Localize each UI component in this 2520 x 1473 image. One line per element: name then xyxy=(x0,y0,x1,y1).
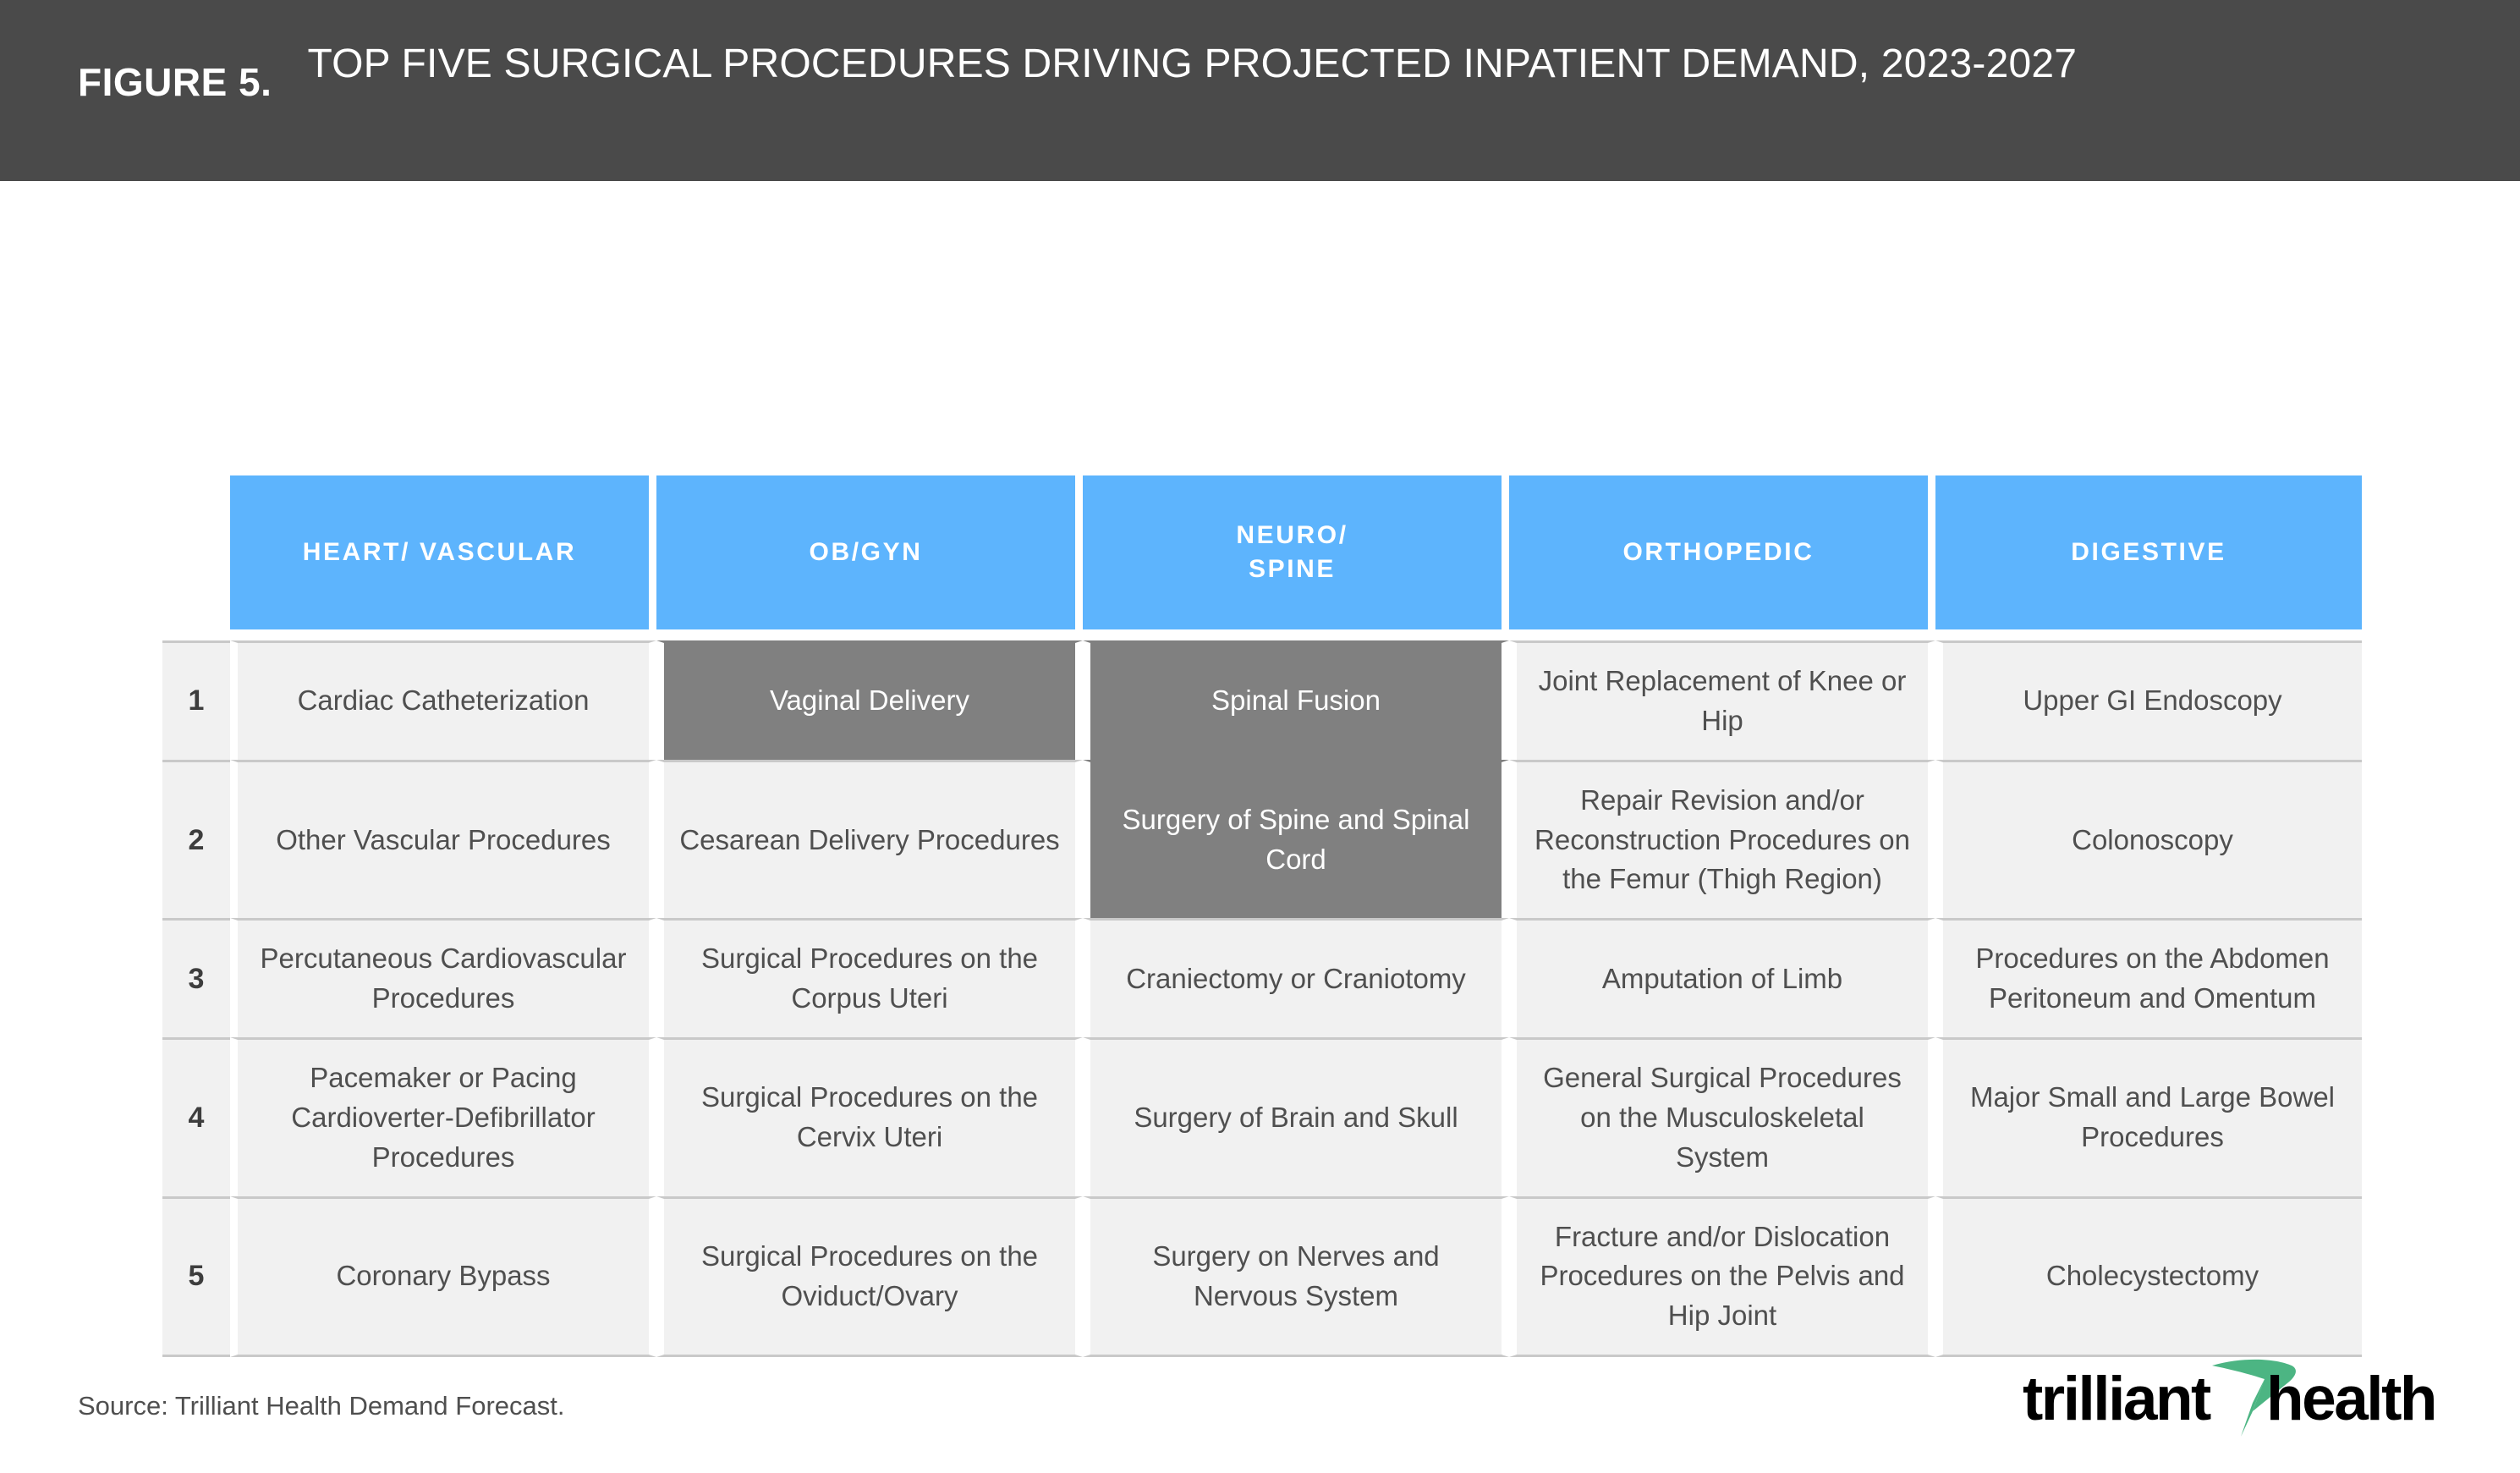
column-header-orthopedic: ORTHOPEDIC xyxy=(1509,475,1935,629)
rank-cell: 1 xyxy=(162,640,230,760)
table-row: 2 Other Vascular Procedures Cesarean Del… xyxy=(162,760,2362,919)
column-header-neuro-spine: NEURO/ SPINE xyxy=(1083,475,1509,629)
procedure-cell: Major Small and Large Bowel Procedures xyxy=(1935,1037,2362,1196)
header-body-spacer xyxy=(162,629,2362,640)
rank-cell: 5 xyxy=(162,1196,230,1358)
procedure-cell: Pacemaker or Pacing Cardioverter-Defibri… xyxy=(230,1037,656,1196)
procedure-cell: Craniectomy or Craniotomy xyxy=(1083,918,1509,1037)
procedure-cell: Spinal Fusion xyxy=(1083,640,1509,760)
table-row: 3 Percutaneous Cardiovascular Procedures… xyxy=(162,918,2362,1037)
rank-cell: 4 xyxy=(162,1037,230,1196)
procedure-cell: Fracture and/or Dislocation Procedures o… xyxy=(1509,1196,1935,1358)
procedure-cell: General Surgical Procedures on the Muscu… xyxy=(1509,1037,1935,1196)
procedure-cell: Surgical Procedures on the Oviduct/Ovary xyxy=(656,1196,1083,1358)
procedure-cell: Surgical Procedures on the Cervix Uteri xyxy=(656,1037,1083,1196)
procedure-cell: Cesarean Delivery Procedures xyxy=(656,760,1083,919)
procedure-cell: Joint Replacement of Knee or Hip xyxy=(1509,640,1935,760)
table-row: 1 Cardiac Catheterization Vaginal Delive… xyxy=(162,640,2362,760)
spacer-cell xyxy=(162,629,2362,640)
top-procedures-table: HEART/ VASCULAR OB/GYN NEURO/ SPINE ORTH… xyxy=(162,475,2362,1357)
procedure-cell: Vaginal Delivery xyxy=(656,640,1083,760)
figure-number-label: FIGURE 5. xyxy=(0,39,272,105)
page-title: TOP FIVE SURGICAL PROCEDURES DRIVING PRO… xyxy=(272,39,2077,89)
column-header-digestive: DIGESTIVE xyxy=(1935,475,2362,629)
procedure-cell: Other Vascular Procedures xyxy=(230,760,656,919)
table-header-row: HEART/ VASCULAR OB/GYN NEURO/ SPINE ORTH… xyxy=(162,475,2362,629)
table-header: HEART/ VASCULAR OB/GYN NEURO/ SPINE ORTH… xyxy=(162,475,2362,629)
logo-wordmark-trilliant: trilliant xyxy=(2023,1365,2211,1433)
procedure-cell: Surgical Procedures on the Corpus Uteri xyxy=(656,918,1083,1037)
procedure-cell: Surgery of Brain and Skull xyxy=(1083,1037,1509,1196)
procedure-cell: Surgery of Spine and Spinal Cord xyxy=(1083,760,1509,919)
procedure-cell: Cholecystectomy xyxy=(1935,1196,2362,1358)
procedure-cell: Upper GI Endoscopy xyxy=(1935,640,2362,760)
table-body: 1 Cardiac Catheterization Vaginal Delive… xyxy=(162,629,2362,1357)
column-header-ob-gyn: OB/GYN xyxy=(656,475,1083,629)
rank-cell: 3 xyxy=(162,918,230,1037)
procedure-cell: Coronary Bypass xyxy=(230,1196,656,1358)
procedures-table-container: HEART/ VASCULAR OB/GYN NEURO/ SPINE ORTH… xyxy=(162,475,2362,1357)
rank-column-header xyxy=(162,475,230,629)
column-header-heart-vascular: HEART/ VASCULAR xyxy=(230,475,656,629)
procedure-cell: Repair Revision and/or Reconstruction Pr… xyxy=(1509,760,1935,919)
procedure-cell: Procedures on the Abdomen Peritoneum and… xyxy=(1935,918,2362,1037)
procedure-cell: Amputation of Limb xyxy=(1509,918,1935,1037)
table-row: 5 Coronary Bypass Surgical Procedures on… xyxy=(162,1196,2362,1358)
source-note: Source: Trilliant Health Demand Forecast… xyxy=(78,1391,564,1421)
figure-content: HEART/ VASCULAR OB/GYN NEURO/ SPINE ORTH… xyxy=(0,181,2520,1473)
procedure-cell: Surgery on Nerves and Nervous System xyxy=(1083,1196,1509,1358)
procedure-cell: Colonoscopy xyxy=(1935,760,2362,919)
procedure-cell: Cardiac Catheterization xyxy=(230,640,656,760)
logo-wordmark-health: health xyxy=(2266,1365,2435,1433)
figure-title-bar: FIGURE 5. TOP FIVE SURGICAL PROCEDURES D… xyxy=(0,0,2520,181)
procedure-cell: Percutaneous Cardiovascular Procedures xyxy=(230,918,656,1037)
trilliant-health-logo: trilliant health xyxy=(2023,1349,2437,1442)
rank-cell: 2 xyxy=(162,760,230,919)
swoosh-tail-icon xyxy=(2241,1379,2265,1437)
table-row: 4 Pacemaker or Pacing Cardioverter-Defib… xyxy=(162,1037,2362,1196)
